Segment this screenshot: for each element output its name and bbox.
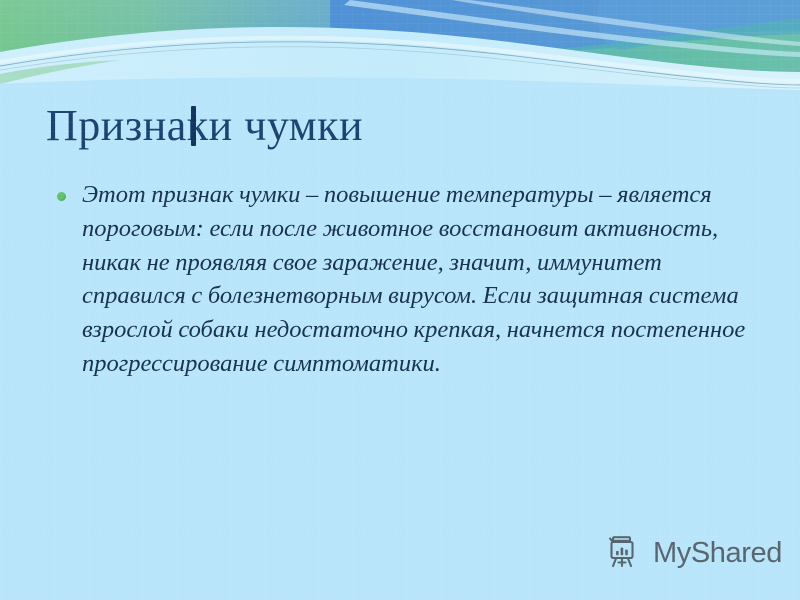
list-item: Этот признак чумки – повышение температу…	[52, 178, 752, 381]
page-title: Признаки чумки	[46, 98, 766, 154]
decorative-wave-banner	[0, 0, 800, 92]
myshared-wordmark: MyShared	[653, 539, 782, 568]
text-cursor-caret	[191, 106, 196, 146]
presentation-chart-easel-icon	[604, 533, 644, 573]
title-block: Признаки чумки	[46, 98, 766, 160]
slide-body: Этот признак чумки – повышение температу…	[52, 178, 752, 381]
bullet-dot-icon	[57, 192, 66, 201]
banner-waves-graphic	[0, 0, 800, 92]
myshared-watermark: MyShared	[604, 533, 782, 573]
presentation-slide: Признаки чумки Этот признак чумки – повы…	[0, 0, 800, 600]
list-item-text: Этот признак чумки – повышение температу…	[82, 178, 752, 381]
